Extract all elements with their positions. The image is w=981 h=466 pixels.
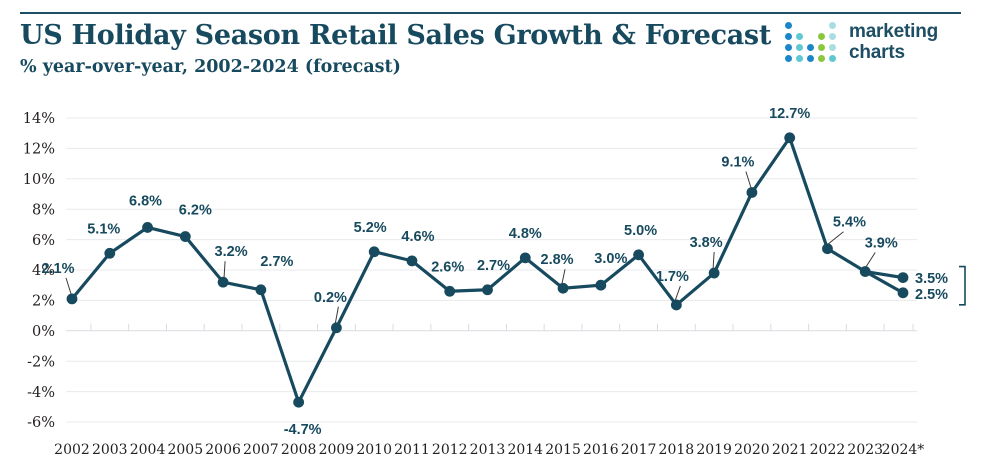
data-label-2023: 3.9% (865, 236, 898, 252)
y-axis-tick-label: 14% (23, 111, 55, 127)
data-point-2007 (255, 284, 266, 295)
data-label-2016: 3.0% (594, 251, 627, 267)
label-leader-line (746, 171, 751, 187)
data-label-2002: 2.1% (41, 261, 74, 277)
y-axis-tick-label: 12% (23, 142, 55, 158)
label-leader-line (713, 252, 714, 268)
logo-dot-matrix-icon (783, 20, 838, 64)
data-label-2010: 5.2% (354, 220, 387, 236)
logo-dot-2-1 (796, 44, 804, 52)
data-point-2008 (293, 397, 304, 408)
data-point-2022 (822, 243, 833, 254)
logo-dot-3-1 (796, 55, 804, 63)
logo-dot-2-2 (807, 44, 815, 52)
data-point-2017 (633, 249, 644, 260)
logo-dot-1-2 (807, 33, 815, 41)
y-axis-tick-label: -6% (27, 415, 55, 431)
data-label-2003: 5.1% (87, 221, 120, 237)
data-label-2020: 9.1% (721, 154, 754, 170)
marketing-charts-logo: marketing charts (783, 20, 938, 64)
data-point-2019 (709, 268, 720, 279)
x-axis-tick-label: 2002 (54, 442, 90, 458)
x-axis-tick-label: 2008 (281, 442, 317, 458)
data-point-2003 (104, 248, 115, 259)
forecast-range-bracket (959, 267, 965, 305)
logo-dot-0-2 (807, 22, 815, 30)
y-axis-tick-label: -4% (27, 385, 55, 401)
data-point-2020 (747, 187, 758, 198)
data-label-2017: 5.0% (624, 223, 657, 239)
logo-dot-3-0 (785, 55, 793, 63)
data-point-2012 (444, 286, 455, 297)
x-axis-tick-label: 2005 (167, 442, 203, 458)
data-label-2009: 0.2% (314, 290, 347, 306)
data-point-2016 (595, 280, 606, 291)
x-axis-tick-label: 2007 (243, 442, 279, 458)
page-subtitle: % year-over-year, 2002-2024 (forecast) (20, 56, 771, 78)
data-point-2024-low (898, 287, 909, 298)
data-label-2012: 2.6% (431, 259, 464, 275)
y-axis-tick-label: 8% (32, 202, 55, 218)
data-point-2018 (671, 300, 682, 311)
logo-dot-1-4 (829, 33, 837, 41)
data-point-2021 (784, 132, 795, 143)
data-point-2005 (180, 231, 191, 242)
x-axis-tick-label: 2020 (734, 442, 770, 458)
x-axis-tick-label: 2024* (882, 442, 925, 458)
logo-dot-2-3 (818, 44, 826, 52)
x-axis-tick-label: 2022 (810, 442, 846, 458)
chart-page: US Holiday Season Retail Sales Growth & … (0, 0, 981, 466)
x-axis-tick-label: 2010 (356, 442, 392, 458)
data-label-2006: 3.2% (215, 244, 248, 260)
data-label-2005: 6.2% (179, 203, 212, 219)
x-axis-tick-label: 2018 (659, 442, 695, 458)
logo-dot-0-0 (785, 22, 793, 30)
y-axis-tick-label: -2% (27, 354, 55, 370)
logo-dot-1-0 (785, 33, 793, 41)
data-point-2006 (218, 277, 229, 288)
logo-dot-0-3 (818, 22, 826, 30)
logo-dot-0-1 (796, 22, 804, 30)
data-label-2021: 12.7% (769, 106, 810, 122)
label-leader-line (335, 307, 338, 323)
data-point-2024-high (898, 272, 909, 283)
label-leader-line (675, 286, 680, 300)
y-axis-tick-label: 0% (32, 324, 55, 340)
x-axis-tick-label: 2003 (92, 442, 128, 458)
x-axis-tick-label: 2023 (847, 442, 883, 458)
data-label-2015: 2.8% (541, 252, 574, 268)
data-label-2011: 4.6% (401, 229, 434, 245)
x-axis-tick-label: 2014 (507, 442, 543, 458)
data-label-2014: 4.8% (509, 226, 542, 242)
data-point-2010 (369, 246, 380, 257)
x-axis-tick-label: 2017 (621, 442, 657, 458)
data-point-2002 (67, 293, 78, 304)
data-label-2013: 2.7% (477, 258, 510, 274)
logo-dot-3-3 (818, 55, 826, 63)
data-label-2019: 3.8% (690, 235, 723, 251)
logo-line-2: charts (849, 42, 938, 63)
logo-dot-3-2 (807, 55, 815, 63)
logo-dot-3-4 (829, 55, 837, 63)
data-point-2023 (860, 266, 871, 277)
logo-dot-2-4 (829, 44, 837, 52)
data-point-2011 (407, 255, 418, 266)
data-label-2022: 5.4% (833, 215, 866, 231)
top-divider (20, 12, 961, 14)
logo-wordmark: marketing charts (849, 21, 938, 63)
page-title: US Holiday Season Retail Sales Growth & … (20, 20, 771, 52)
label-leader-line (562, 269, 565, 283)
label-leader-line (828, 232, 843, 244)
chart-header: US Holiday Season Retail Sales Growth & … (20, 20, 771, 78)
data-label-2018: 1.7% (656, 269, 689, 285)
x-axis-tick-label: 2012 (432, 442, 468, 458)
line-chart: 14%12%10%8%6%4%2%0%-2%-4%-6%200220032004… (0, 100, 981, 466)
logo-dot-1-1 (796, 33, 804, 41)
data-point-2009 (331, 322, 342, 333)
data-label-2007: 2.7% (260, 254, 293, 270)
plot-area: 14%12%10%8%6%4%2%0%-2%-4%-6%200220032004… (0, 100, 981, 466)
data-label-2004: 6.8% (129, 193, 162, 209)
x-axis-tick-label: 2019 (696, 442, 732, 458)
label-leader-line (66, 278, 71, 294)
data-point-2013 (482, 284, 493, 295)
y-axis-tick-label: 6% (32, 233, 55, 249)
label-leader-line (224, 261, 225, 277)
x-axis-tick-label: 2011 (394, 442, 430, 458)
logo-dot-0-4 (829, 22, 837, 30)
data-point-2015 (558, 283, 569, 294)
x-axis-tick-label: 2016 (583, 442, 619, 458)
logo-dot-2-0 (785, 44, 793, 52)
y-axis-tick-label: 2% (32, 294, 55, 310)
data-point-2004 (142, 222, 153, 233)
data-point-2014 (520, 252, 531, 263)
x-axis-tick-label: 2021 (772, 442, 808, 458)
data-label-2024-low: 2.5% (915, 287, 948, 303)
x-axis-tick-label: 2015 (545, 442, 581, 458)
x-axis-tick-label: 2004 (130, 442, 166, 458)
data-label-2008: -4.7% (284, 422, 322, 438)
label-leader-line (866, 253, 875, 267)
x-axis-tick-label: 2009 (319, 442, 355, 458)
data-label-2024-high: 3.5% (915, 271, 948, 287)
logo-dot-1-3 (818, 33, 826, 41)
x-axis-tick-label: 2006 (205, 442, 241, 458)
logo-line-1: marketing (849, 21, 938, 42)
y-axis-tick-label: 10% (23, 172, 55, 188)
x-axis-tick-label: 2013 (470, 442, 506, 458)
